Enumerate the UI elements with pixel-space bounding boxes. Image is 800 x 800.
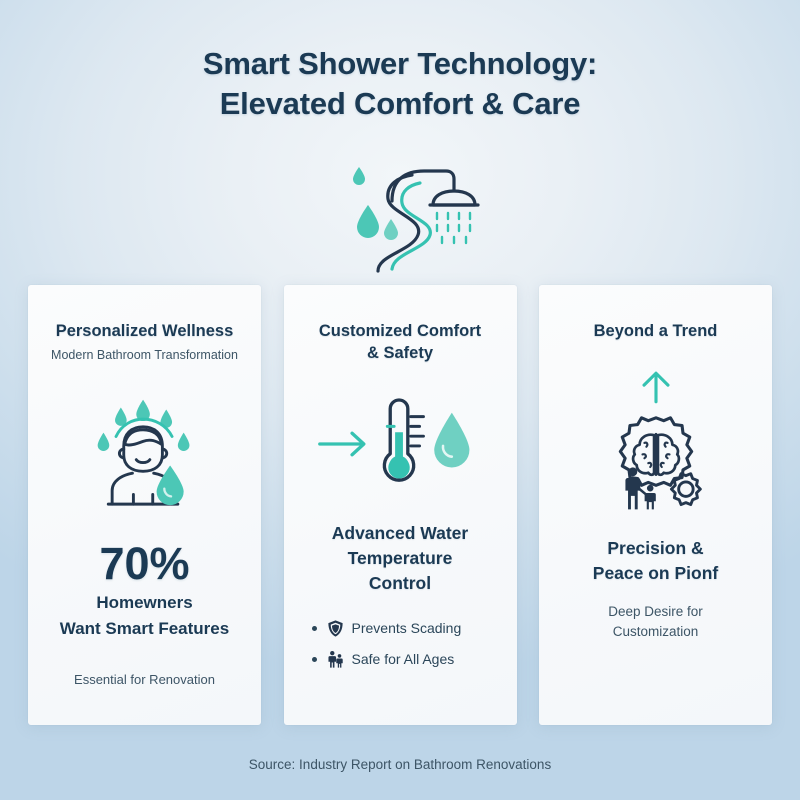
arrow-up-icon	[551, 368, 760, 406]
stat-label-line-2: Want Smart Features	[60, 617, 229, 641]
person-wellness-water-drops-icon	[40, 394, 249, 508]
card-2-lead-line-3: Control	[369, 571, 431, 596]
card-3-note-line-2: Customization	[613, 622, 699, 642]
list-item: Prevents Scading	[312, 618, 505, 638]
page-title: Smart Shower Technology: Elevated Comfor…	[0, 44, 800, 124]
title-line-1: Smart Shower Technology:	[0, 44, 800, 84]
card-beyond-a-trend[interactable]: Beyond a Trend	[539, 285, 772, 725]
stat-note: Essential for Renovation	[74, 671, 215, 689]
card-3-lead-line-1: Precision &	[607, 536, 703, 561]
card-3-lead-line-2: Peace on Pionf	[593, 561, 718, 586]
shower-head-water-flow-icon	[320, 143, 480, 278]
card-3-note-line-1: Deep Desire for	[608, 602, 703, 622]
card-2-lead-line-1: Advanced Water	[332, 521, 468, 546]
card-2-lead-line-2: Temperature	[348, 546, 453, 571]
card-personalized-wellness[interactable]: Personalized Wellness Modern Bathroom Tr…	[28, 285, 261, 725]
thermometer-water-drop-icon	[296, 389, 505, 497]
card-1-subheading: Modern Bathroom Transformation	[51, 347, 238, 364]
stat-label-line-1: Homewners	[96, 591, 192, 615]
card-2-heading-line-1: Customized Comfort	[319, 320, 481, 342]
card-1-heading: Personalized Wellness	[56, 320, 234, 342]
stat-value: 70%	[99, 539, 189, 589]
list-item: Safe for All Ages	[312, 649, 505, 669]
bullet-dot	[312, 626, 317, 631]
list-item-label: Prevents Scading	[352, 618, 462, 638]
shield-icon	[326, 619, 345, 638]
family-people-icon	[326, 650, 345, 669]
benefit-list: Prevents Scading Safe for All Ages	[296, 618, 505, 680]
brain-gear-family-icon	[551, 412, 760, 520]
title-line-2: Elevated Comfort & Care	[0, 84, 800, 124]
source-caption: Source: Industry Report on Bathroom Reno…	[0, 757, 800, 772]
cards-row: Personalized Wellness Modern Bathroom Tr…	[28, 285, 772, 725]
card-customized-comfort-safety[interactable]: Customized Comfort & Safety	[284, 285, 517, 725]
card-3-heading: Beyond a Trend	[594, 320, 718, 342]
card-2-heading-line-2: & Safety	[367, 342, 433, 364]
bullet-dot	[312, 657, 317, 662]
list-item-label: Safe for All Ages	[352, 649, 455, 669]
arrow-right-icon	[320, 433, 364, 455]
